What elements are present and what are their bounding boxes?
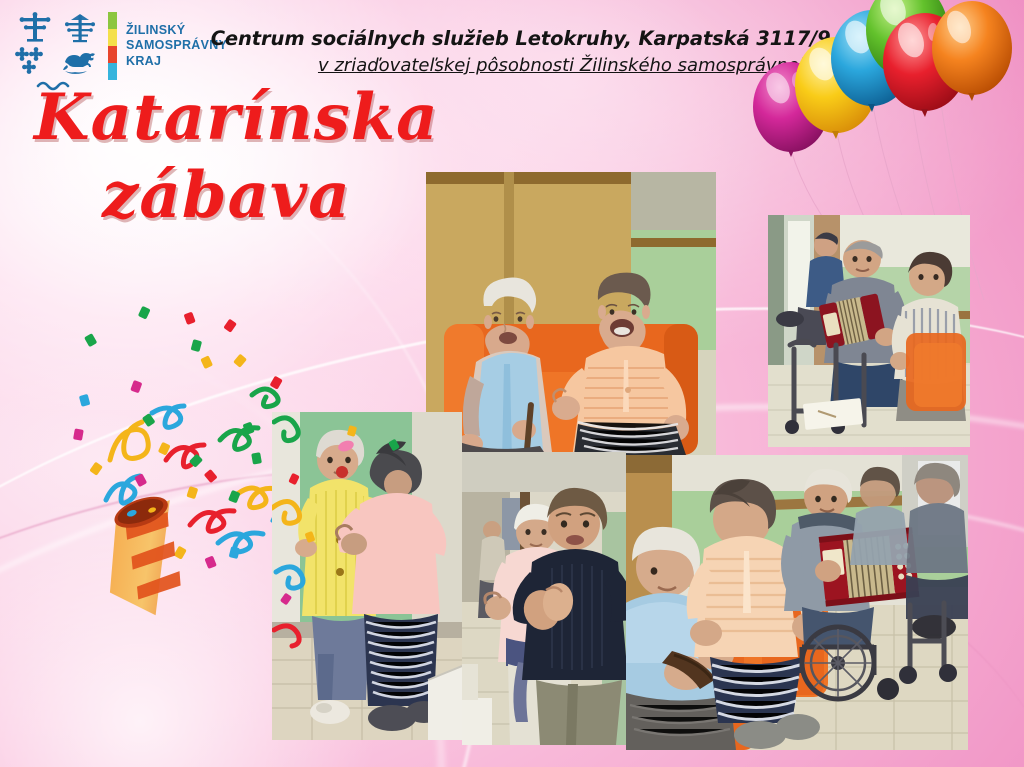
photo-accordion-corridor xyxy=(768,215,970,447)
lion-icon xyxy=(59,46,102,76)
double-cross-icon xyxy=(14,12,57,44)
photo-two-women-sofa xyxy=(426,172,716,455)
poster-canvas: ŽILINSKÝ SAMOSPRÁVNY KRAJ Centrum sociál… xyxy=(0,0,1024,767)
pine-tree-icon xyxy=(59,12,102,44)
photo-accordion-seated-group xyxy=(626,455,968,750)
logo-emblems xyxy=(14,12,102,80)
photo-clapping-man xyxy=(462,452,626,745)
photo-dancing-pair xyxy=(272,412,462,740)
flowers-icon xyxy=(14,46,57,76)
title-line-1: Katarínska xyxy=(20,86,450,150)
page-title: Katarínska zábava xyxy=(20,86,450,228)
logo-color-bar xyxy=(108,12,117,80)
title-line-2: zábava xyxy=(20,164,450,228)
zilinsky-samospravny-kraj-logo: ŽILINSKÝ SAMOSPRÁVNY KRAJ xyxy=(14,12,227,80)
